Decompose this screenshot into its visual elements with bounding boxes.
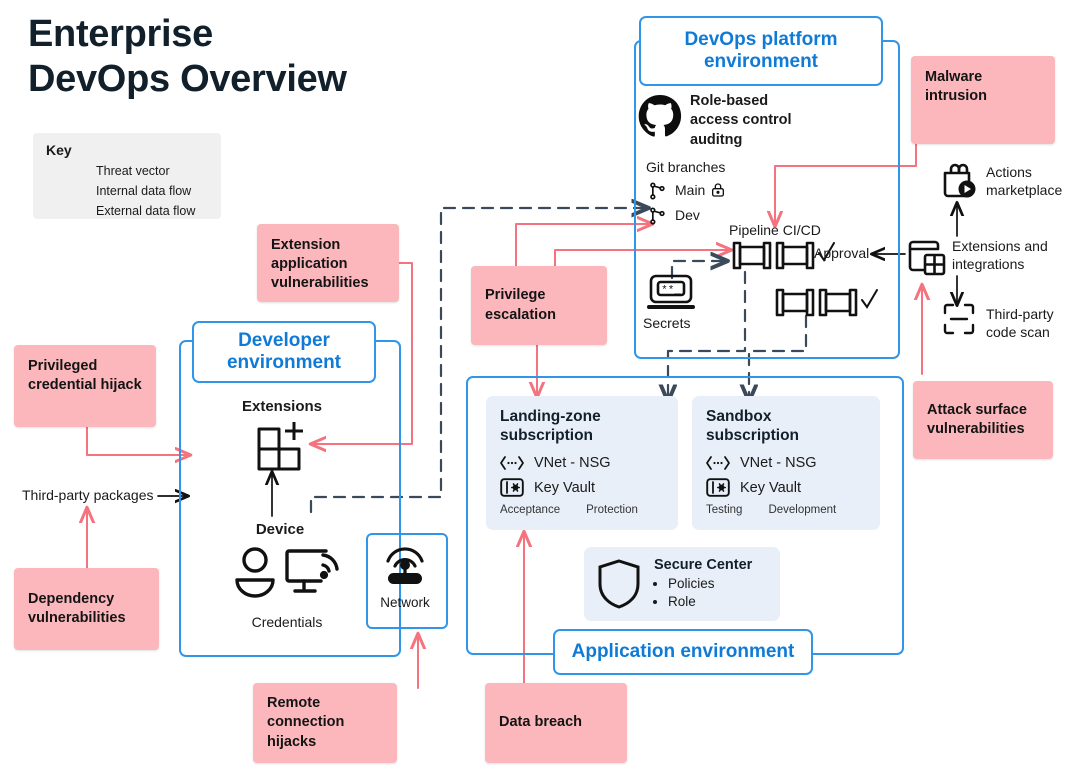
actions-marketplace-label: Actions marketplace bbox=[986, 163, 1078, 200]
sandbox-footer: Testing Development bbox=[706, 504, 866, 516]
secure-center-bullet: Role bbox=[668, 593, 752, 611]
diagram-canvas: Enterprise DevOps Overview Key Threat ve… bbox=[0, 0, 1079, 779]
key-item-label: Internal data flow bbox=[96, 184, 191, 198]
vnet-icon bbox=[706, 456, 730, 470]
git-branch-icon bbox=[647, 181, 667, 201]
threat-remote-connection-hijacks[interactable]: Remote connection hijacks bbox=[253, 683, 397, 763]
landing-zone-vnet-row: VNet - NSG bbox=[500, 455, 664, 471]
git-branch-main-label: Main bbox=[675, 182, 705, 200]
pipeline-label: Pipeline CI/CD bbox=[729, 222, 821, 240]
landing-zone-keyvault-label: Key Vault bbox=[534, 480, 595, 496]
sandbox-keyvault-label: Key Vault bbox=[740, 480, 801, 496]
sandbox-footer-item: Testing bbox=[706, 504, 742, 516]
sandbox-keyvault-row: Key Vault bbox=[706, 478, 866, 497]
user-icon bbox=[233, 546, 277, 600]
threat-attack-surface-vulnerabilities[interactable]: Attack surface vulnerabilities bbox=[913, 381, 1053, 459]
sandbox-title: Sandbox subscription bbox=[706, 408, 866, 445]
wire-privesc-to-dev-branch bbox=[516, 224, 652, 266]
landing-zone-keyvault-row: Key Vault bbox=[500, 478, 664, 497]
secure-center-bullets: Policies Role bbox=[668, 575, 752, 611]
monitor-wifi-icon bbox=[284, 546, 342, 600]
landing-zone-subscription-card[interactable]: Landing-zone subscription VNet - NSG Key… bbox=[486, 396, 678, 530]
third-party-packages-label: Third-party packages bbox=[22, 487, 154, 505]
code-scan-icon bbox=[943, 303, 975, 335]
threat-privilege-escalation[interactable]: Privilege escalation bbox=[471, 266, 607, 345]
key-vault-icon bbox=[500, 478, 524, 497]
git-branch-icon bbox=[647, 206, 667, 226]
git-branches-label: Git branches bbox=[646, 159, 725, 177]
sandbox-subscription-card[interactable]: Sandbox subscription VNet - NSG Key Vaul… bbox=[692, 396, 880, 530]
landing-zone-title: Landing-zone subscription bbox=[500, 408, 664, 445]
secure-center-bullet: Policies bbox=[668, 575, 752, 593]
secrets-label: Secrets bbox=[643, 315, 690, 333]
key-legend: Key Threat vector Internal data flow Ext… bbox=[33, 133, 221, 219]
extensions-puzzle-icon bbox=[256, 420, 308, 472]
page-title: Enterprise DevOps Overview bbox=[28, 12, 347, 102]
extensions-integrations-label: Extensions and integrations bbox=[952, 237, 1072, 274]
third-party-code-scan-label: Third-party code scan bbox=[986, 305, 1078, 342]
landing-zone-footer: Acceptance Protection bbox=[500, 504, 664, 516]
shield-icon bbox=[596, 558, 642, 610]
extensions-label: Extensions bbox=[222, 398, 342, 417]
page-title-line2: DevOps Overview bbox=[28, 57, 347, 102]
sandbox-footer-item: Development bbox=[768, 504, 836, 516]
threat-privileged-credential-hijack[interactable]: Privileged credential hijack bbox=[14, 345, 156, 427]
key-item-label: Threat vector bbox=[96, 164, 170, 178]
landing-zone-footer-item: Acceptance bbox=[500, 504, 560, 516]
vnet-icon bbox=[500, 456, 524, 470]
secure-center-title: Secure Center bbox=[654, 557, 752, 573]
lock-icon bbox=[710, 182, 726, 198]
threat-extension-application-vulnerabilities[interactable]: Extension application vulnerabilities bbox=[257, 224, 399, 302]
key-item-label: External data flow bbox=[96, 204, 195, 218]
device-label: Device bbox=[225, 521, 335, 540]
page-title-line1: Enterprise bbox=[28, 12, 347, 57]
application-environment-label: Application environment bbox=[553, 629, 813, 675]
actions-marketplace-icon bbox=[941, 162, 977, 200]
secure-center-card[interactable]: Secure Center Policies Role bbox=[584, 547, 780, 621]
github-icon bbox=[637, 94, 683, 140]
key-vault-icon bbox=[706, 478, 730, 497]
threat-malware-intrusion[interactable]: Malware intrusion bbox=[911, 56, 1055, 144]
git-branch-dev-label: Dev bbox=[675, 207, 700, 225]
network-label: Network bbox=[366, 595, 444, 612]
rbac-label: Role-based access control auditng bbox=[690, 92, 820, 150]
secrets-icon: **_ bbox=[645, 272, 697, 314]
approval-label: Approval bbox=[814, 245, 869, 263]
sandbox-vnet-label: VNet - NSG bbox=[740, 455, 817, 471]
credentials-label: Credentials bbox=[222, 614, 352, 632]
network-icon bbox=[380, 544, 430, 586]
svg-text:**_: **_ bbox=[661, 285, 681, 297]
sandbox-vnet-row: VNet - NSG bbox=[706, 455, 866, 471]
devops-platform-environment-label: DevOps platform environment bbox=[639, 16, 883, 86]
key-heading: Key bbox=[46, 142, 72, 158]
threat-dependency-vulnerabilities[interactable]: Dependency vulnerabilities bbox=[14, 568, 159, 650]
landing-zone-vnet-label: VNet - NSG bbox=[534, 455, 611, 471]
landing-zone-footer-item: Protection bbox=[586, 504, 638, 516]
extensions-integrations-icon bbox=[907, 236, 947, 276]
developer-environment-label: Developer environment bbox=[192, 321, 376, 383]
threat-data-breach[interactable]: Data breach bbox=[485, 683, 627, 763]
wire-credhijack-to-developer bbox=[87, 427, 190, 455]
